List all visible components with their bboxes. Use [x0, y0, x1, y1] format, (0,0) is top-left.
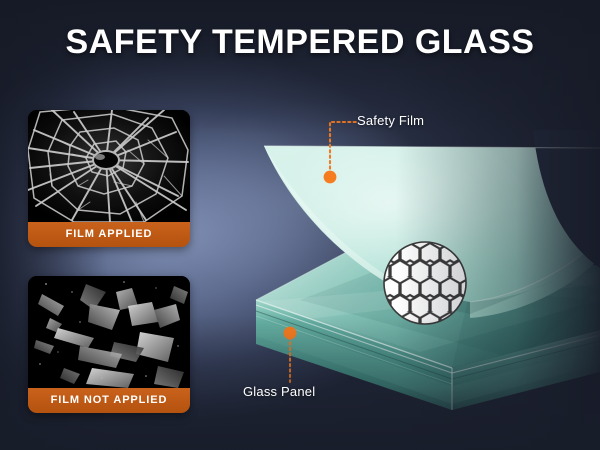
shattered-glass-shards-image: [28, 276, 190, 388]
poster-canvas: SAFETY TEMPERED GLASS: [0, 0, 600, 450]
callout-label-safety-film: Safety Film: [357, 113, 424, 128]
cracked-glass-web-image: [28, 110, 190, 222]
card-label-film-applied: FILM APPLIED: [28, 222, 190, 247]
card-label-film-not-applied: FILM NOT APPLIED: [28, 388, 190, 413]
comparison-card-film-applied[interactable]: FILM APPLIED: [28, 110, 190, 247]
comparison-card-film-not-applied[interactable]: FILM NOT APPLIED: [28, 276, 190, 413]
page-title: SAFETY TEMPERED GLASS: [0, 22, 600, 62]
callout-label-glass-panel: Glass Panel: [243, 384, 315, 399]
